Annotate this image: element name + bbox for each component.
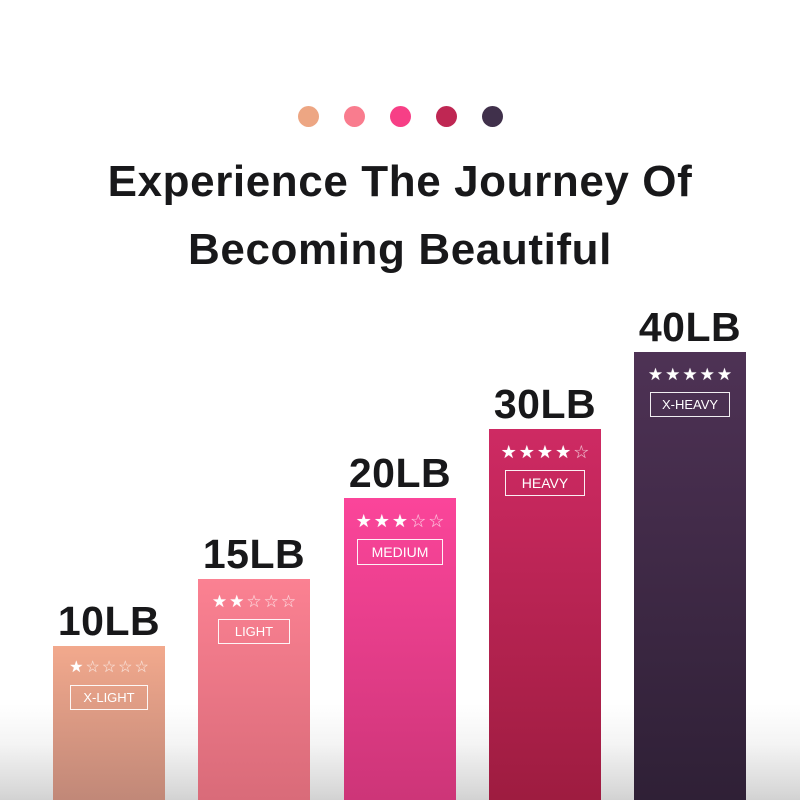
star-empty-icon: ☆: [264, 593, 279, 610]
bar-group-20lb[interactable]: 20LB★★★☆☆MEDIUM: [344, 446, 456, 800]
star-filled-icon: ★: [229, 593, 244, 610]
bar-badge-x-heavy: ★★★★★X-HEAVY: [634, 366, 746, 417]
star-empty-icon: ☆: [281, 593, 296, 610]
star-empty-icon: ☆: [573, 443, 589, 461]
bar-weight-label-40lb: 40LB: [634, 304, 746, 350]
star-filled-icon: ★: [356, 512, 372, 530]
star-filled-icon: ★: [537, 443, 553, 461]
star-filled-icon: ★: [519, 443, 535, 461]
bar-weight-label-15lb: 15LB: [198, 531, 310, 577]
star-filled-icon: ★: [555, 443, 571, 461]
bar-weight-label-20lb: 20LB: [344, 450, 456, 496]
level-badge-heavy: HEAVY: [505, 470, 585, 496]
resistance-band-bar-chart: 10LB★☆☆☆☆X-LIGHT15LB★★☆☆☆LIGHT20LB★★★☆☆M…: [0, 0, 800, 800]
star-filled-icon: ★: [682, 366, 697, 383]
star-filled-icon: ★: [648, 366, 663, 383]
star-empty-icon: ☆: [102, 660, 116, 676]
star-empty-icon: ☆: [428, 512, 444, 530]
bar-group-10lb[interactable]: 10LB★☆☆☆☆X-LIGHT: [53, 594, 165, 800]
level-badge-x-heavy: X-HEAVY: [650, 392, 730, 417]
star-filled-icon: ★: [374, 512, 390, 530]
star-filled-icon: ★: [392, 512, 408, 530]
star-filled-icon: ★: [212, 593, 227, 610]
star-filled-icon: ★: [665, 366, 680, 383]
level-badge-medium: MEDIUM: [357, 539, 444, 565]
star-empty-icon: ☆: [85, 660, 99, 676]
level-badge-x-light: X-LIGHT: [70, 685, 147, 710]
star-rating-x-light: ★☆☆☆☆: [69, 660, 149, 676]
star-filled-icon: ★: [717, 366, 732, 383]
star-empty-icon: ☆: [135, 660, 149, 676]
bar-30lb[interactable]: ★★★★☆HEAVY: [489, 429, 601, 800]
level-badge-light: LIGHT: [218, 619, 290, 644]
bar-group-15lb[interactable]: 15LB★★☆☆☆LIGHT: [198, 527, 310, 800]
bar-badge-medium: ★★★☆☆MEDIUM: [344, 512, 456, 565]
bar-weight-label-10lb: 10LB: [53, 598, 165, 644]
bar-group-40lb[interactable]: 40LB★★★★★X-HEAVY: [634, 300, 746, 800]
star-empty-icon: ☆: [118, 660, 132, 676]
star-rating-light: ★★☆☆☆: [212, 593, 296, 610]
star-empty-icon: ☆: [246, 593, 261, 610]
star-rating-heavy: ★★★★☆: [501, 443, 590, 461]
bar-group-30lb[interactable]: 30LB★★★★☆HEAVY: [489, 377, 601, 800]
star-rating-medium: ★★★☆☆: [356, 512, 445, 530]
star-empty-icon: ☆: [410, 512, 426, 530]
bar-weight-label-30lb: 30LB: [489, 381, 601, 427]
bar-10lb[interactable]: ★☆☆☆☆X-LIGHT: [53, 646, 165, 800]
star-filled-icon: ★: [700, 366, 715, 383]
bar-badge-heavy: ★★★★☆HEAVY: [489, 443, 601, 496]
star-rating-x-heavy: ★★★★★: [648, 366, 732, 383]
bar-20lb[interactable]: ★★★☆☆MEDIUM: [344, 498, 456, 800]
bar-badge-light: ★★☆☆☆LIGHT: [198, 593, 310, 644]
bar-15lb[interactable]: ★★☆☆☆LIGHT: [198, 579, 310, 800]
bar-badge-x-light: ★☆☆☆☆X-LIGHT: [53, 660, 165, 710]
poster-canvas: Experience The Journey Of Becoming Beaut…: [0, 0, 800, 800]
star-filled-icon: ★: [501, 443, 517, 461]
bar-40lb[interactable]: ★★★★★X-HEAVY: [634, 352, 746, 800]
star-filled-icon: ★: [69, 660, 83, 676]
